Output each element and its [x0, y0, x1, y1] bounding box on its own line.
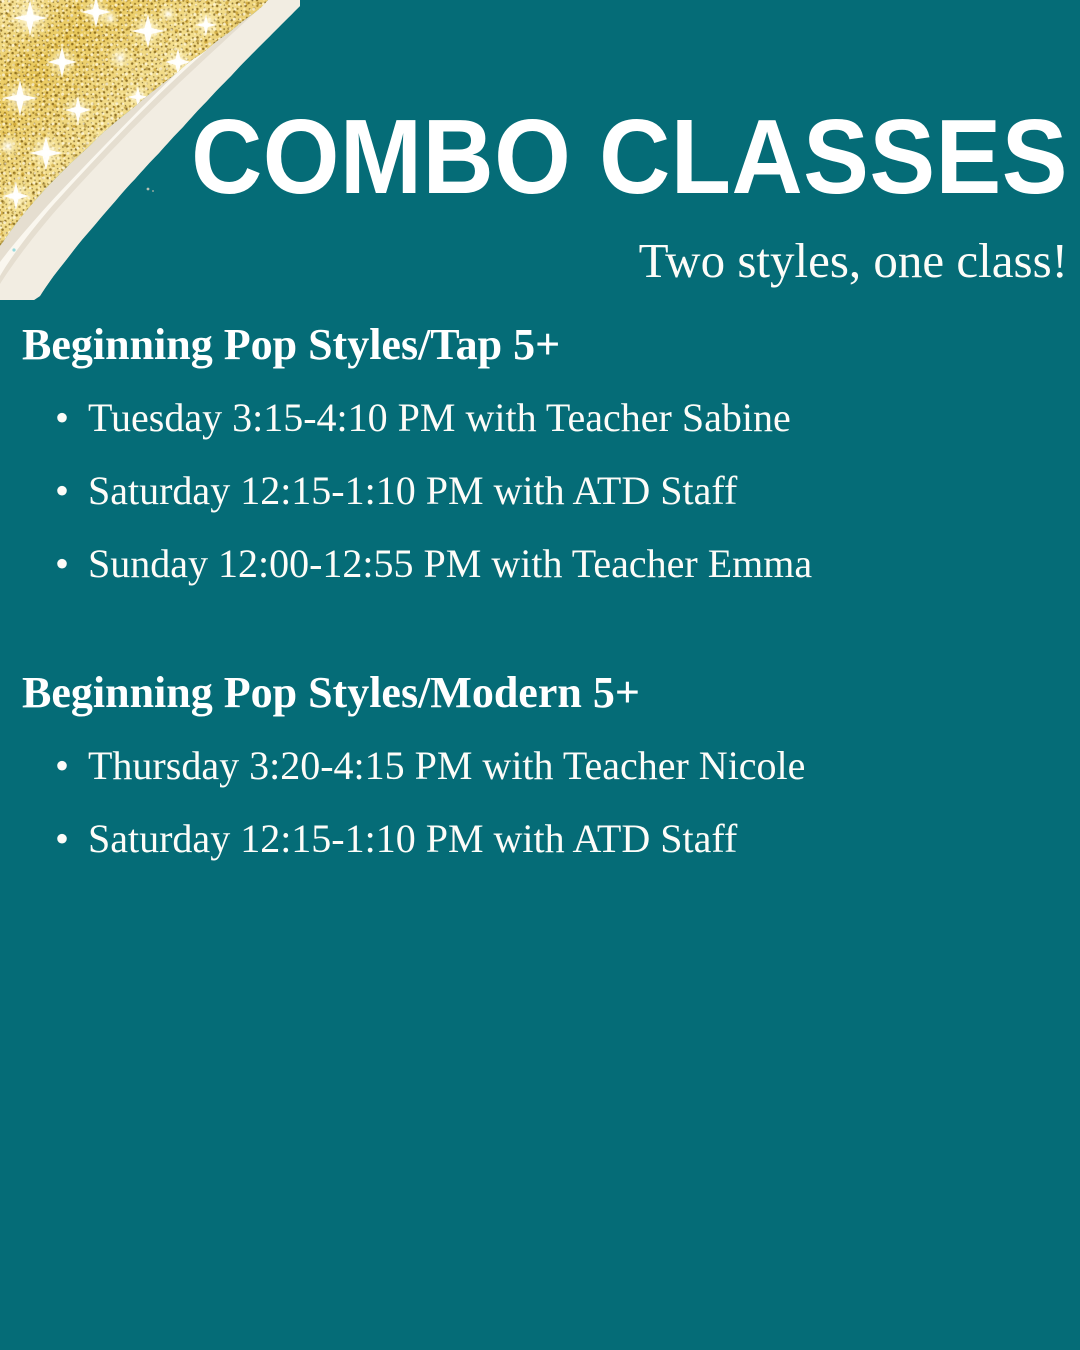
poster-canvas: COMBO CLASSES Two styles, one class! Beg…: [0, 0, 1080, 1350]
class-schedule-list: Thursday 3:20-4:15 PM with Teacher Nicol…: [0, 730, 1080, 876]
page-subtitle: Two styles, one class!: [0, 233, 1068, 289]
page-title: COMBO CLASSES: [75, 104, 1068, 210]
section-heading: Beginning Pop Styles/Tap 5+: [22, 317, 1080, 373]
list-item: Tuesday 3:15-4:10 PM with Teacher Sabine: [0, 382, 1080, 455]
class-section: Beginning Pop Styles/Tap 5+ Tuesday 3:15…: [0, 317, 1080, 601]
list-item: Thursday 3:20-4:15 PM with Teacher Nicol…: [0, 730, 1080, 803]
list-item: Saturday 12:15-1:10 PM with ATD Staff: [0, 803, 1080, 876]
section-heading: Beginning Pop Styles/Modern 5+: [22, 665, 1080, 721]
class-sections: Beginning Pop Styles/Tap 5+ Tuesday 3:15…: [0, 317, 1080, 876]
list-item: Sunday 12:00-12:55 PM with Teacher Emma: [0, 528, 1080, 601]
class-schedule-list: Tuesday 3:15-4:10 PM with Teacher Sabine…: [0, 382, 1080, 600]
list-item: Saturday 12:15-1:10 PM with ATD Staff: [0, 455, 1080, 528]
class-section: Beginning Pop Styles/Modern 5+ Thursday …: [0, 665, 1080, 876]
